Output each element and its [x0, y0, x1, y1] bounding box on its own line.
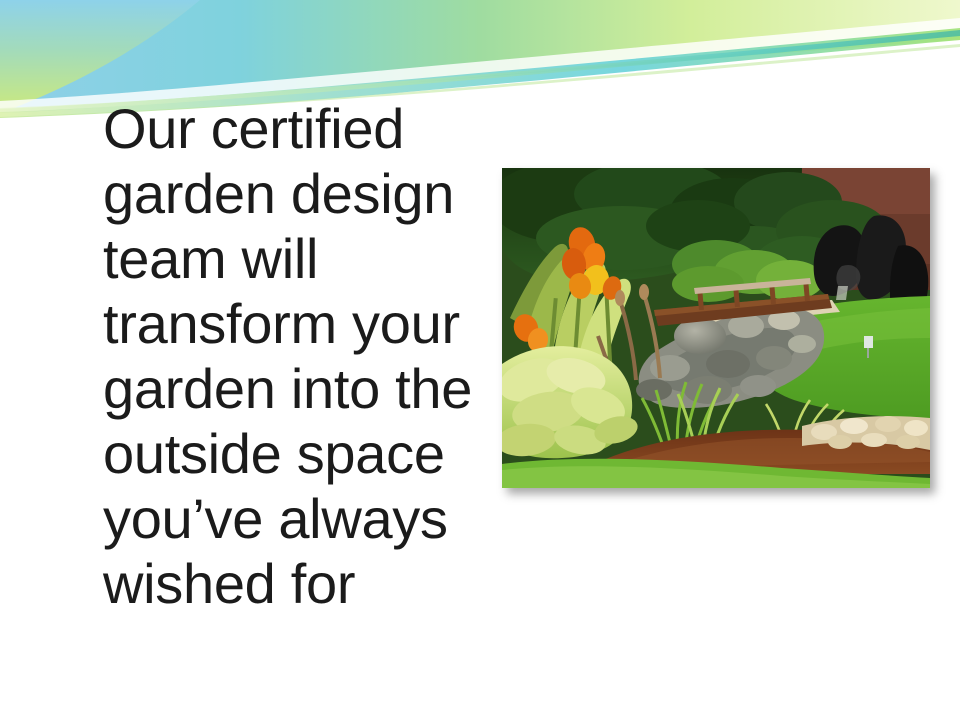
body-text-line: you’ve always [103, 486, 503, 551]
body-text-line: outside space [103, 421, 503, 486]
body-text-line: team will [103, 226, 503, 291]
body-text-line: wished for [103, 551, 503, 616]
body-text-line: Our certified [103, 96, 503, 161]
presentation-slide: Our certified garden design team will tr… [0, 0, 960, 720]
garden-photo-image [502, 168, 930, 488]
garden-photo [502, 168, 930, 488]
body-text-line: garden into the [103, 356, 503, 421]
body-text-line: garden design [103, 161, 503, 226]
body-text-block: Our certified garden design team will tr… [103, 96, 503, 616]
body-text-line: transform your [103, 291, 503, 356]
